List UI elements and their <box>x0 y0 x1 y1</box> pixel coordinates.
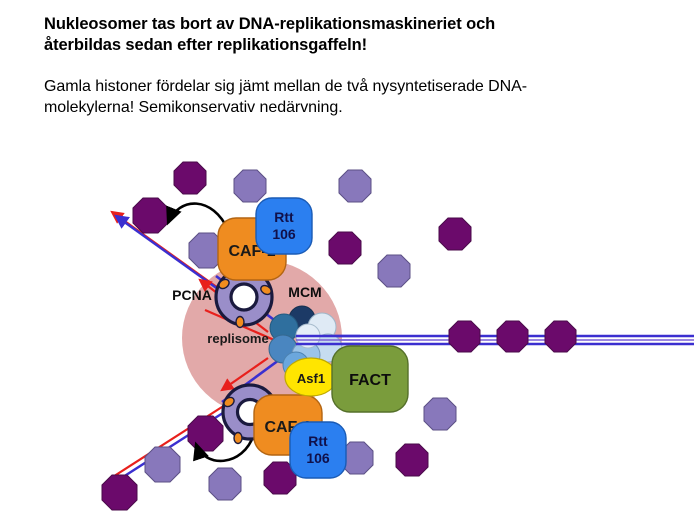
nucleosome-lower-left-group <box>102 416 223 510</box>
fact-label: FACT <box>349 372 391 389</box>
replication-fork-diagram: CAF-1 Rtt 106 CAF-1 Rtt 106 <box>0 150 694 520</box>
nucleosome-new <box>424 398 456 430</box>
nucleosome-old <box>497 321 528 352</box>
heading-line-2: återbildas sedan efter replikationsgaffe… <box>44 35 670 56</box>
rtt106-top-label-line2: 106 <box>272 226 296 242</box>
rtt106-top: Rtt 106 <box>256 198 312 254</box>
heading-line-1: Nukleosomer tas bort av DNA-replikations… <box>44 14 670 35</box>
nucleosome-new <box>209 468 241 500</box>
nucleosome-old <box>188 416 223 451</box>
nucleosome-old <box>396 444 428 476</box>
nucleosome-new <box>145 447 180 482</box>
rtt106-bottom: Rtt 106 <box>290 422 346 478</box>
mcm-label: MCM <box>288 284 321 300</box>
replisome-label: replisome <box>207 331 268 346</box>
nucleosome-new <box>378 255 410 287</box>
slide-canvas: Nukleosomer tas bort av DNA-replikations… <box>0 0 694 520</box>
nucleosome-old <box>102 475 137 510</box>
body-line-1: Gamla histoner fördelar sig jämt mellan … <box>44 76 670 97</box>
nucleosome-old <box>329 232 361 264</box>
asf1-label: Asf1 <box>297 371 325 386</box>
nucleosome-old <box>174 162 206 194</box>
histone-deposition-arrow-top <box>168 204 228 230</box>
slide-heading: Nukleosomer tas bort av DNA-replikations… <box>44 14 670 57</box>
slide-body-text: Gamla histoner fördelar sig jämt mellan … <box>44 76 670 118</box>
asf1-chaperone: Asf1 <box>285 358 337 396</box>
body-line-2: molekylerna! Semikonservativ nedärvning. <box>44 97 670 118</box>
nucleosome-new <box>234 170 266 202</box>
pcna-label: PCNA <box>172 287 212 303</box>
nucleosome-old <box>439 218 471 250</box>
nucleosome-new <box>339 170 371 202</box>
rtt106-bottom-label-line2: 106 <box>306 450 330 466</box>
rtt106-top-label-line1: Rtt <box>274 209 294 225</box>
nucleosome-old <box>545 321 576 352</box>
nucleosome-right-strand-group <box>449 321 576 352</box>
fact-complex: FACT <box>332 346 408 412</box>
nucleosome-old <box>449 321 480 352</box>
nucleosome-old <box>133 198 168 233</box>
rtt106-bottom-label-line1: Rtt <box>308 433 328 449</box>
